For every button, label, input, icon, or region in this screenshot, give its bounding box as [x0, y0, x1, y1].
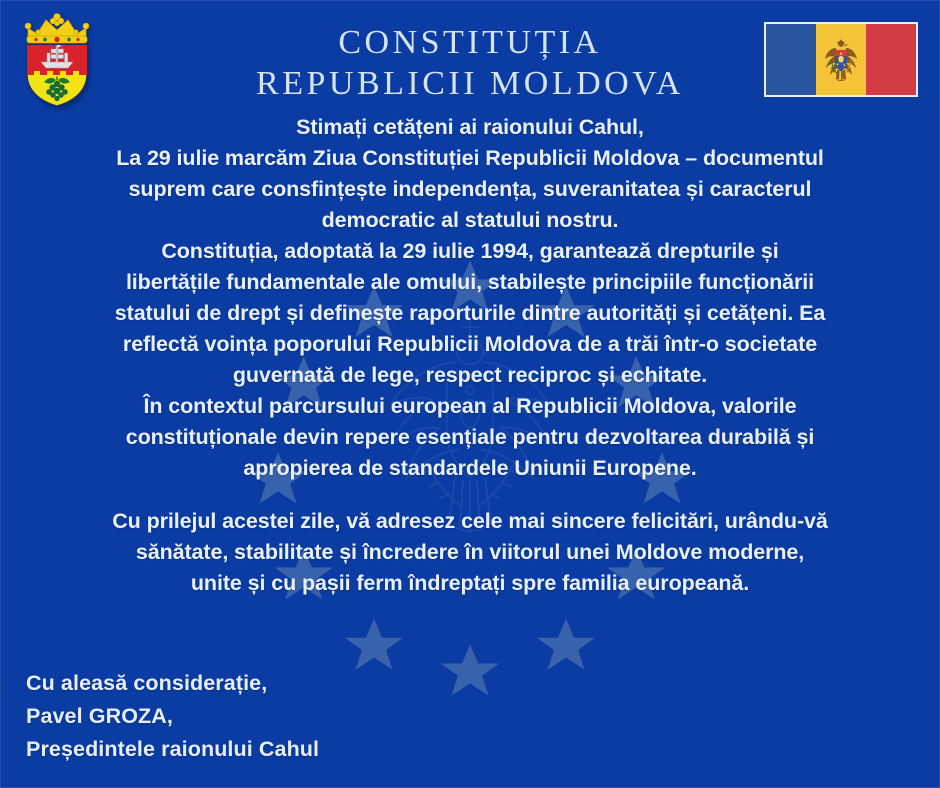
paragraph-line: apropierea de standardele Uniunii Europe… [26, 453, 914, 484]
paragraph-line: suprem care consfințește independența, s… [26, 174, 914, 205]
flag-stripe-yellow [816, 24, 866, 95]
paragraph-line: Stimați cetățeni ai raionului Cahul, [26, 112, 914, 143]
poster: CONSTITUȚIA REPUBLICII MOLDOVA [0, 0, 940, 788]
paragraph-line: La 29 iulie marcăm Ziua Constituției Rep… [26, 143, 914, 174]
paragraph-line: unite și cu pașii ferm îndreptați spre f… [26, 568, 914, 599]
paragraph-line: În contextul parcursului european al Rep… [26, 391, 914, 422]
paragraph-line: guvernată de lege, respect reciproc și e… [26, 360, 914, 391]
paragraph-line: Cu prilejul acestei zile, vă adresez cel… [26, 506, 914, 537]
flag-stripe-red [866, 24, 916, 95]
flag-stripe-blue [766, 24, 816, 95]
paragraph-line: democratic al statului nostru. [26, 205, 914, 236]
poster-header: CONSTITUȚIA REPUBLICII MOLDOVA [0, 0, 940, 112]
signature-closing: Cu aleasă considerație, [26, 667, 319, 700]
paragraph: Stimați cetățeni ai raionului Cahul,La 2… [26, 112, 914, 236]
moldova-coat-of-arms-icon [824, 38, 858, 82]
paragraph-line: Constituția, adoptată la 29 iulie 1994, … [26, 236, 914, 267]
signature-role: Președintele raionului Cahul [26, 733, 319, 766]
signature-name: Pavel GROZA, [26, 700, 319, 733]
paragraph-line: statului de drept și definește raporturi… [26, 298, 914, 329]
moldova-flag-icon [764, 22, 918, 97]
paragraph: În contextul parcursului european al Rep… [26, 391, 914, 484]
paragraph-line: libertățile fundamentale ale omului, sta… [26, 267, 914, 298]
signature-block: Cu aleasă considerație, Pavel GROZA, Pre… [26, 667, 319, 766]
paragraph-line: reflectă voința poporului Republicii Mol… [26, 329, 914, 360]
message-body: Stimați cetățeni ai raionului Cahul,La 2… [0, 112, 940, 599]
paragraph-line: constituționale devin repere esențiale p… [26, 422, 914, 453]
paragraph: Cu prilejul acestei zile, vă adresez cel… [26, 506, 914, 599]
paragraph-line: sănătate, stabilitate și încredere în vi… [26, 537, 914, 568]
paragraph: Constituția, adoptată la 29 iulie 1994, … [26, 236, 914, 391]
